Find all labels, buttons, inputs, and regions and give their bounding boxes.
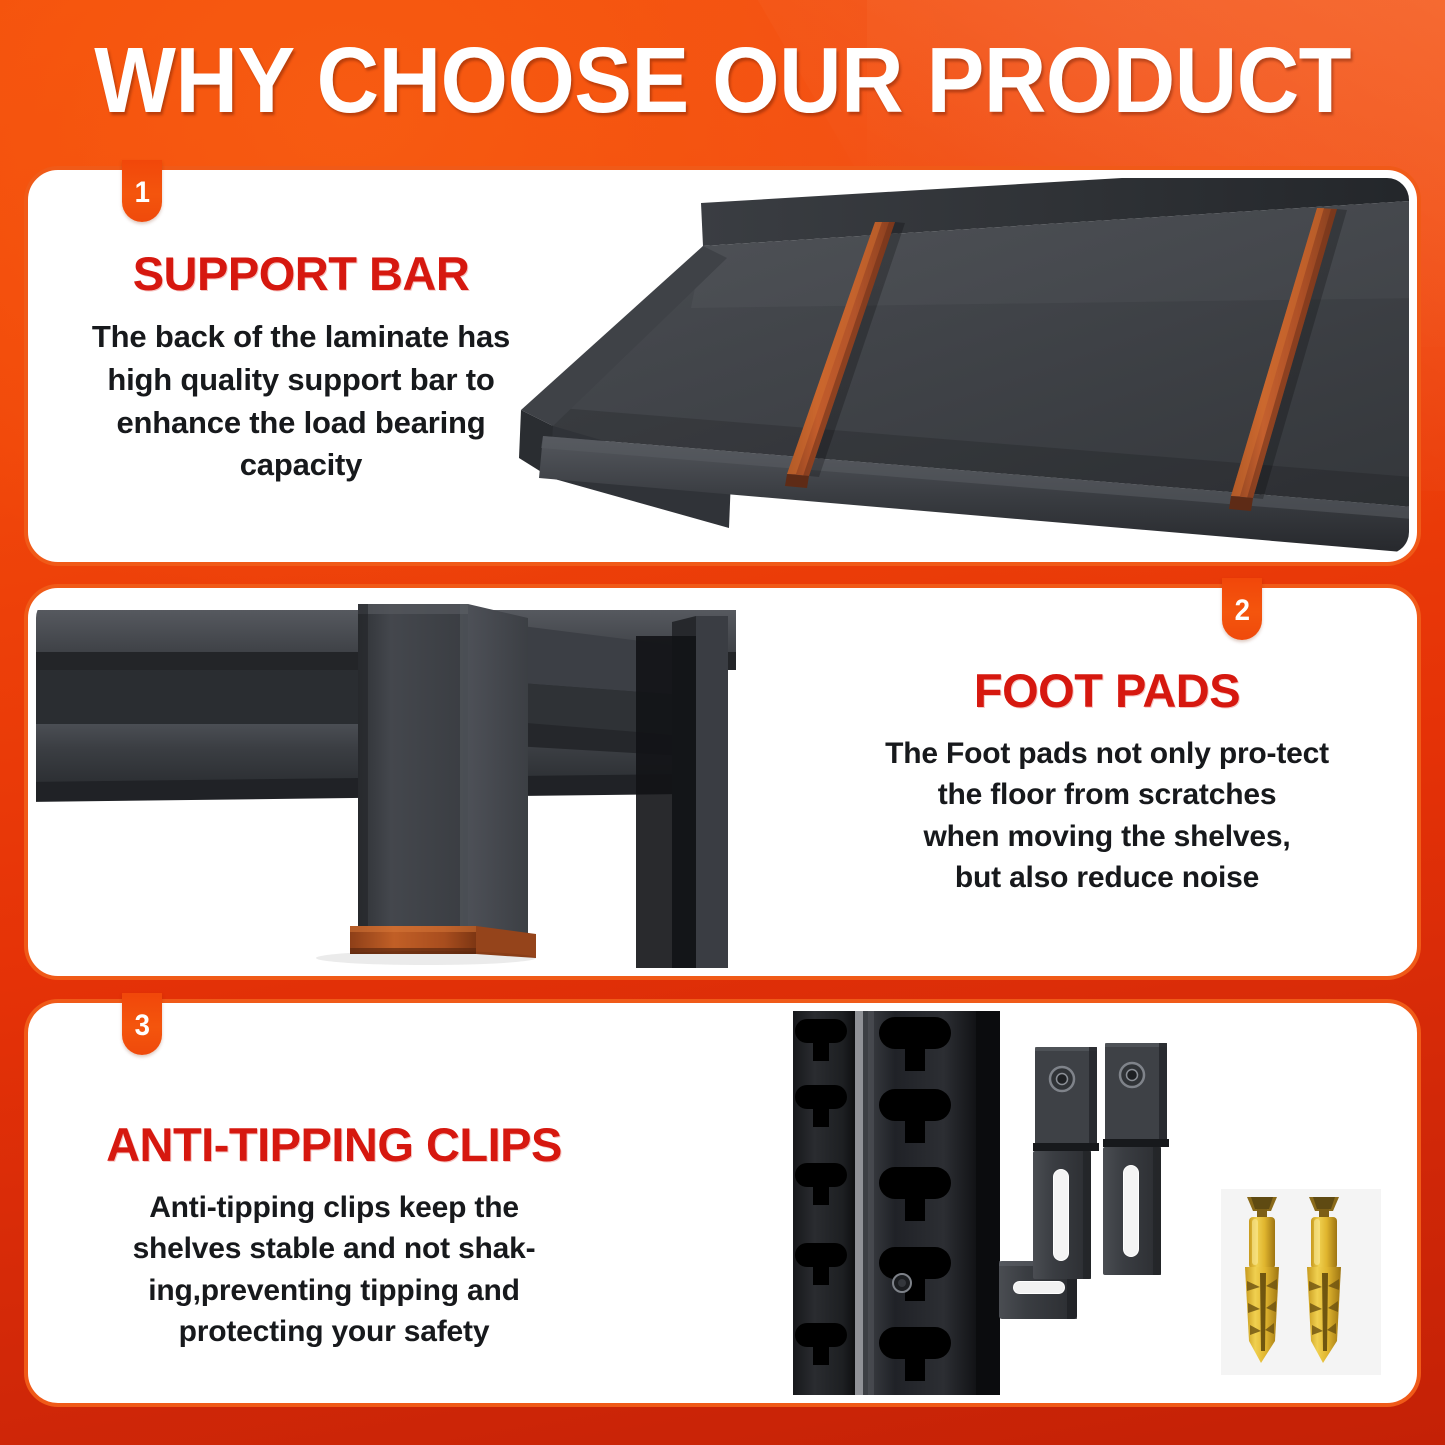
feature-1-description: The back of the laminate has high qualit… (92, 316, 510, 487)
feature-3-number-badge: 3 (122, 993, 162, 1055)
feature-3-desc-line-3: ing,preventing tipping and (133, 1270, 536, 1311)
feature-card-2-inner: FOOT PADS The Foot pads not only pro-tec… (36, 596, 1409, 968)
feature-2-description: The Foot pads not only pro-tect the floo… (885, 733, 1329, 899)
feature-card-1-inner: SUPPORT BAR The back of the laminate has… (36, 178, 1409, 554)
feature-3-desc-line-4: protecting your safety (133, 1311, 536, 1352)
feature-2-desc-line-4: but also reduce noise (885, 857, 1329, 898)
feature-1-desc-line-2: high quality support bar to (92, 359, 510, 402)
feature-3-heading: ANTI-TIPPING CLIPS (106, 1120, 562, 1169)
feature-2-number-badge: 2 (1222, 578, 1262, 640)
feature-1-desc-line-4: capacity (92, 444, 510, 487)
support-bar-product-image (491, 178, 1409, 554)
feature-2-desc-line-2: the floor from scratches (885, 774, 1329, 815)
page-header: WHY CHOOSE OUR PRODUCT (0, 0, 1445, 160)
feature-1-desc-line-3: enhance the load bearing (92, 402, 510, 445)
page-title: WHY CHOOSE OUR PRODUCT (94, 34, 1351, 127)
feature-card-support-bar: SUPPORT BAR The back of the laminate has… (28, 170, 1417, 562)
feature-3-desc-line-2: shelves stable and not shak- (133, 1228, 536, 1269)
feature-2-desc-line-3: when moving the shelves, (885, 816, 1329, 857)
feature-2-heading: FOOT PADS (974, 666, 1240, 715)
feature-1-text-block: SUPPORT BAR The back of the laminate has… (66, 218, 536, 518)
feature-3-number: 3 (134, 1011, 149, 1055)
feature-2-text-block: FOOT PADS The Foot pads not only pro-tec… (827, 632, 1387, 932)
feature-2-number: 2 (1234, 596, 1249, 640)
foot-pads-product-image (36, 596, 796, 968)
feature-card-anti-tipping-clips: ANTI-TIPPING CLIPS Anti-tipping clips ke… (28, 1003, 1417, 1403)
feature-1-number-badge: 1 (122, 160, 162, 222)
feature-1-heading: SUPPORT BAR (133, 249, 470, 298)
feature-1-number: 1 (134, 178, 149, 222)
feature-2-desc-line-1: The Foot pads not only pro-tect (885, 733, 1329, 774)
feature-card-3-inner: ANTI-TIPPING CLIPS Anti-tipping clips ke… (36, 1011, 1409, 1395)
feature-3-desc-line-1: Anti-tipping clips keep the (133, 1187, 536, 1228)
feature-1-desc-line-1: The back of the laminate has (92, 316, 510, 359)
feature-3-text-block: ANTI-TIPPING CLIPS Anti-tipping clips ke… (54, 1111, 614, 1361)
anti-tipping-clips-product-image (771, 1011, 1409, 1395)
feature-3-description: Anti-tipping clips keep the shelves stab… (133, 1187, 536, 1353)
feature-card-foot-pads: FOOT PADS The Foot pads not only pro-tec… (28, 588, 1417, 976)
